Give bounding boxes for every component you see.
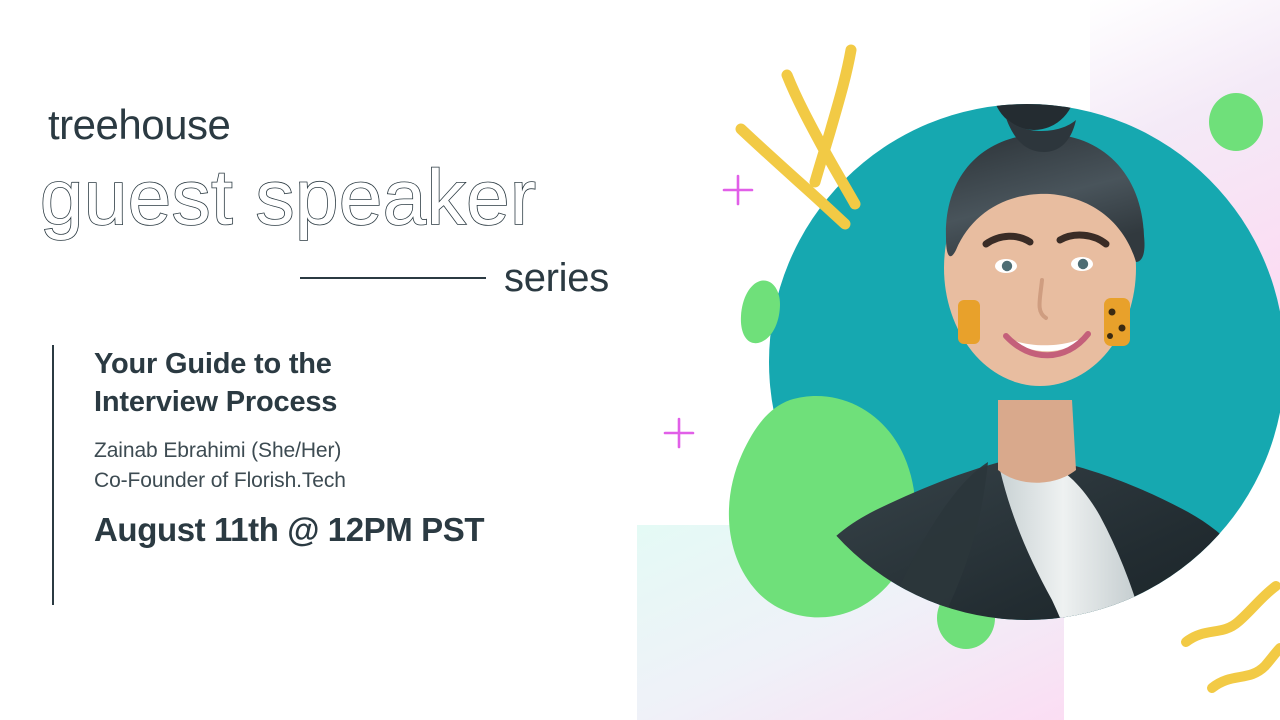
green-blob-large xyxy=(729,396,915,617)
series-divider-rule xyxy=(300,277,486,279)
green-blob-small xyxy=(741,281,780,344)
session-datetime: August 11th @ 12PM PST xyxy=(94,512,484,548)
speaker-name: Zainab Ebrahimi (She/Her) xyxy=(94,436,484,466)
yellow-rays xyxy=(741,50,855,224)
yellow-squiggles xyxy=(1186,586,1280,688)
series-label: series xyxy=(504,258,609,298)
plus-mark-upper xyxy=(724,176,752,204)
speaker-role: Co-Founder of Florish.Tech xyxy=(94,466,484,496)
session-title: Your Guide to the Interview Process xyxy=(94,345,484,422)
headline-column: treehouse guest speaker series Your Guid… xyxy=(0,0,680,720)
session-info-block: Your Guide to the Interview Process Zain… xyxy=(52,345,484,605)
brand-wordmark: treehouse xyxy=(48,104,230,146)
teal-circle xyxy=(769,104,1280,620)
hero-outline-title: guest speaker xyxy=(40,158,536,236)
gradient-panel-bottom xyxy=(637,525,1064,720)
green-dot-bottom xyxy=(937,587,995,649)
speaker-portrait xyxy=(770,42,1280,700)
green-dot-top xyxy=(1209,93,1263,151)
gradient-panel-top-right xyxy=(1090,0,1280,332)
series-row: series xyxy=(300,258,630,298)
promo-slide: treehouse guest speaker series Your Guid… xyxy=(0,0,1280,720)
